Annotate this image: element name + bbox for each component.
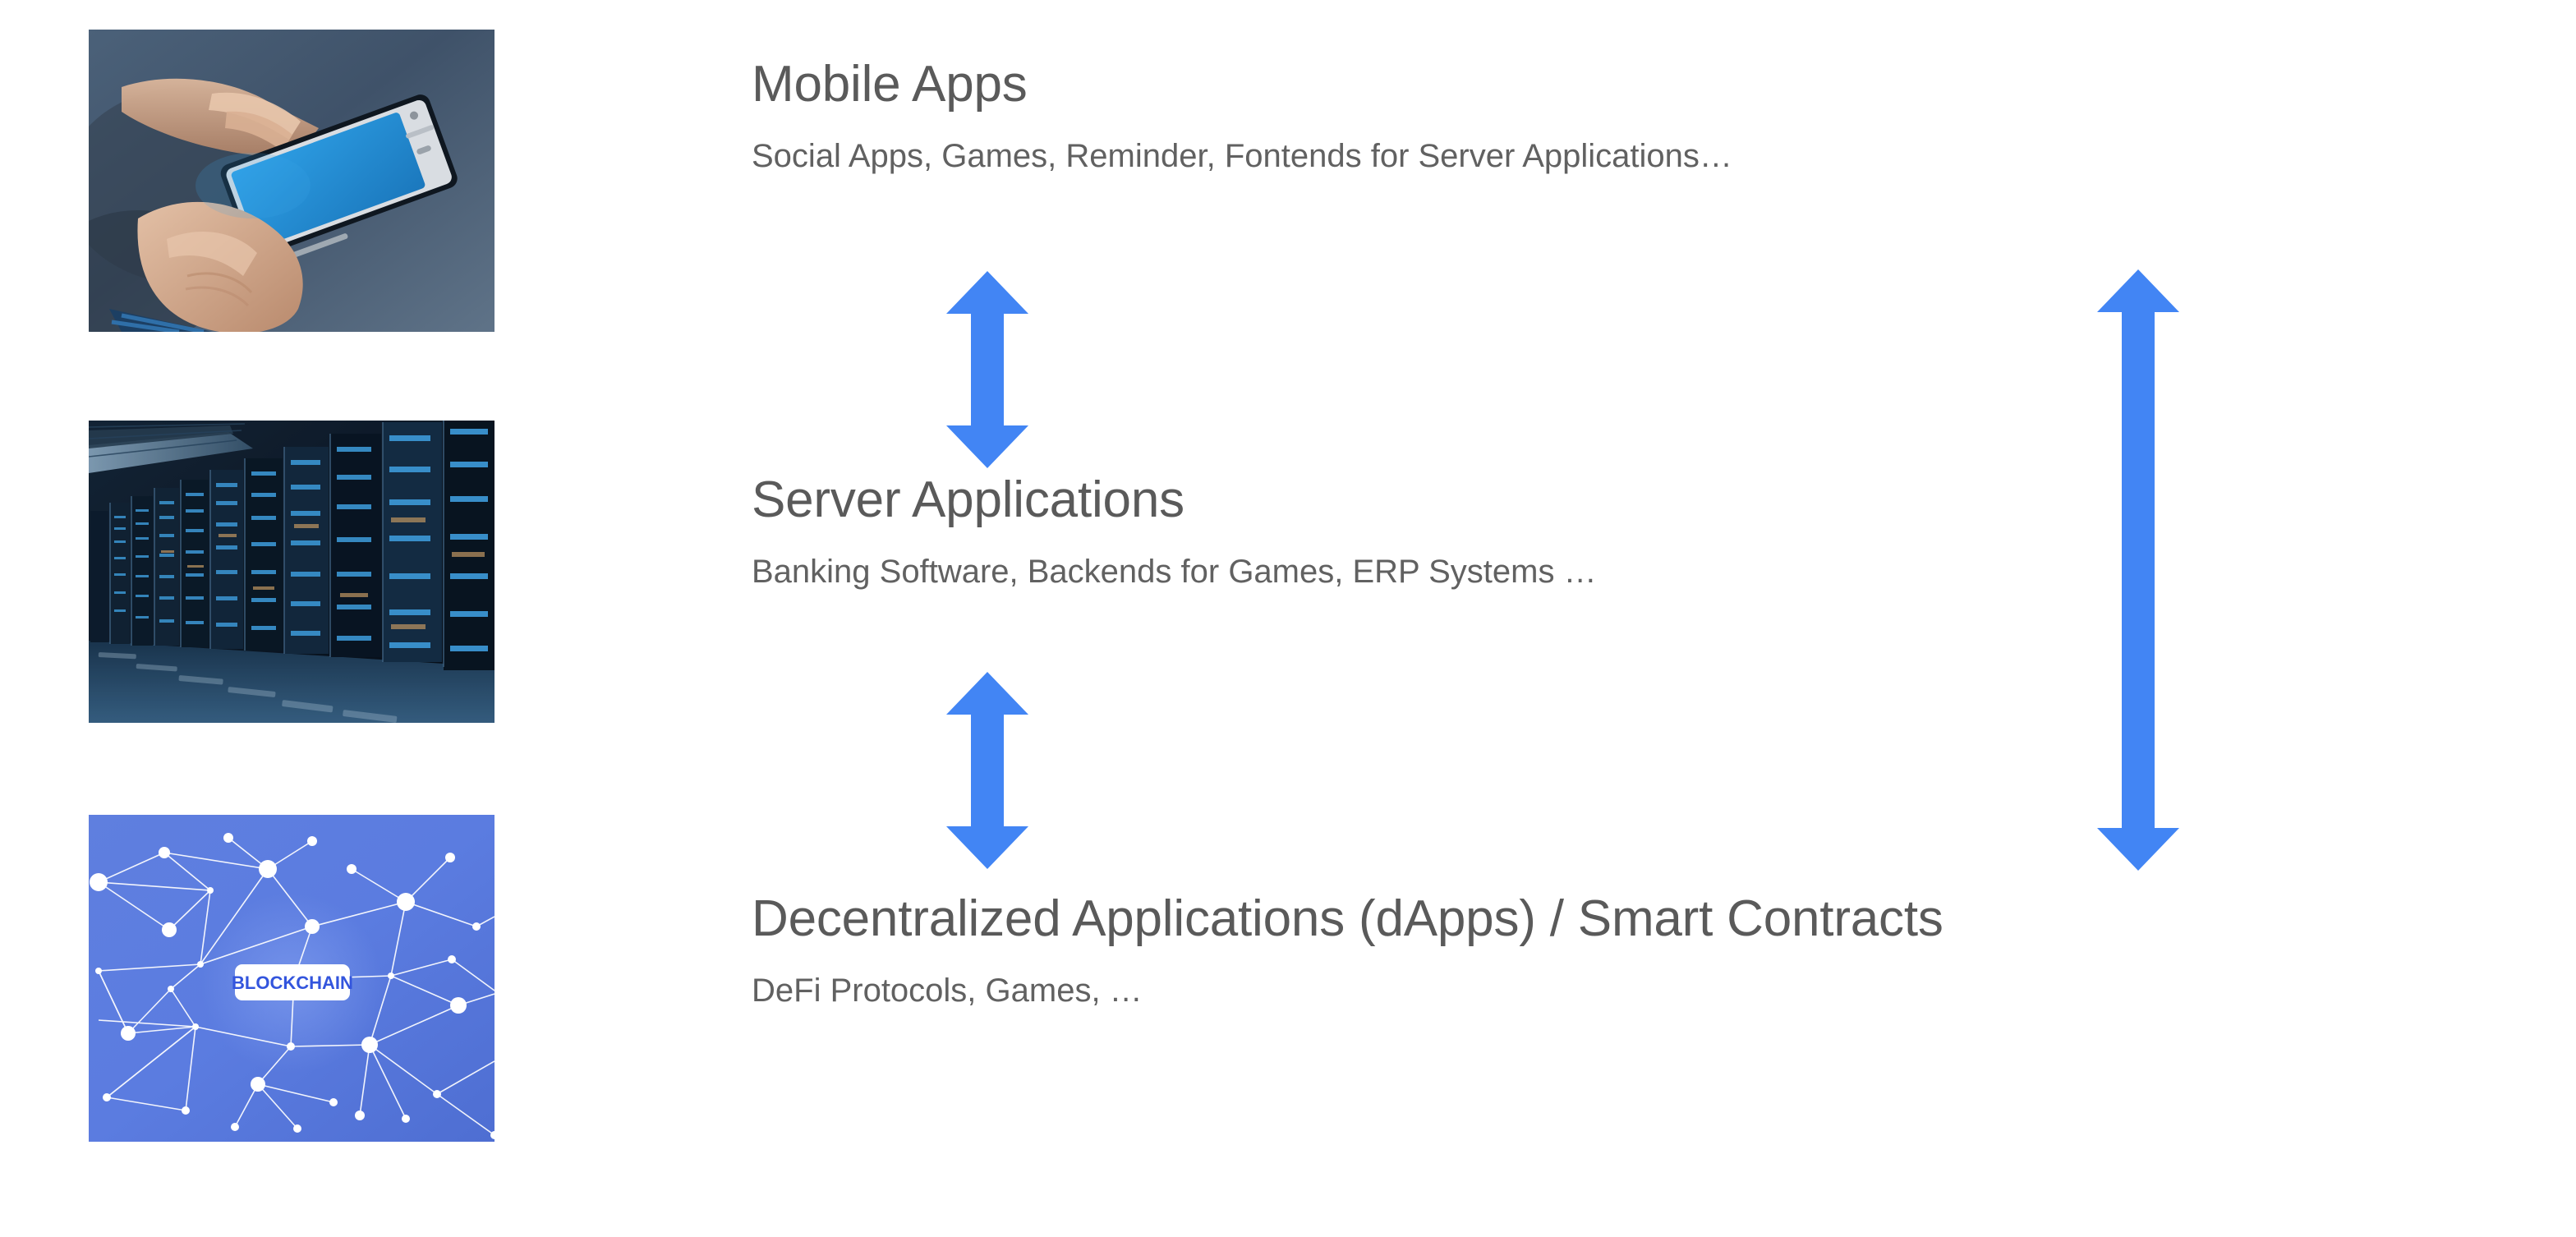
double-arrow-vertical-icon (946, 271, 1028, 468)
blockchain-badge: BLOCKCHAIN (232, 964, 353, 1000)
text-block-server-applications: Server Applications Banking Software, Ba… (752, 475, 1597, 588)
mobile-phone-in-hands-photo (89, 30, 494, 332)
slide-canvas: BLOCKCHAIN Mobile Apps Social Apps, Game… (0, 0, 2576, 1237)
arrow-mobile-to-server (946, 271, 1028, 468)
subheading-server-applications: Banking Software, Backends for Games, ER… (752, 555, 1597, 588)
heading-server-applications: Server Applications (752, 475, 1597, 526)
text-block-dapps: Decentralized Applications (dApps) / Sma… (752, 894, 1943, 1007)
double-arrow-vertical-icon (2097, 269, 2179, 871)
arrow-mobile-to-dapps (2097, 269, 2179, 871)
thumbnail-dapps[interactable]: BLOCKCHAIN (89, 815, 494, 1142)
blockchain-network-graphic: BLOCKCHAIN (89, 815, 494, 1142)
thumbnail-mobile-apps[interactable] (89, 30, 494, 332)
blockchain-badge-label: BLOCKCHAIN (232, 973, 353, 993)
thumbnail-server-applications[interactable] (89, 421, 494, 723)
server-room-racks-photo (89, 421, 494, 723)
subheading-dapps: DeFi Protocols, Games, … (752, 974, 1943, 1007)
double-arrow-vertical-icon (946, 672, 1028, 869)
arrow-server-to-dapps (946, 672, 1028, 869)
subheading-mobile-apps: Social Apps, Games, Reminder, Fontends f… (752, 140, 1732, 172)
heading-dapps: Decentralized Applications (dApps) / Sma… (752, 894, 1943, 945)
heading-mobile-apps: Mobile Apps (752, 59, 1732, 110)
text-block-mobile-apps: Mobile Apps Social Apps, Games, Reminder… (752, 59, 1732, 172)
